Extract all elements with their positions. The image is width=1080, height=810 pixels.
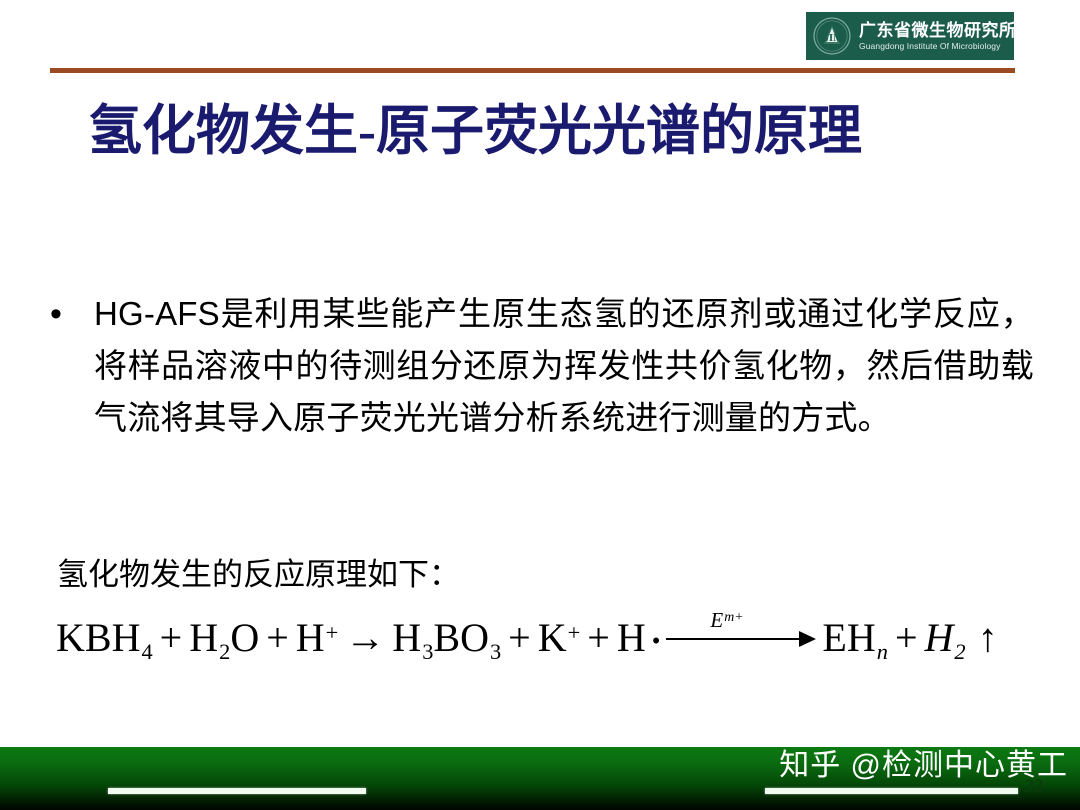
potassium-charge: + xyxy=(568,620,581,645)
kbh4-base: KBH xyxy=(56,615,140,660)
boric-h: H xyxy=(392,615,421,660)
kbh4-subscript: 4 xyxy=(141,639,152,664)
bullet-list-item: • HG-AFS是利用某些能产生原生态氢的还原剂或通过化学反应，将样品溶液中的待… xyxy=(44,288,1034,444)
catalyst-element: E xyxy=(710,608,723,632)
catalyst-reaction-arrow-icon: Em+ xyxy=(666,617,816,651)
product-hydrogen-gas: H2 xyxy=(925,614,966,665)
proton-h: H xyxy=(296,615,325,660)
header-divider xyxy=(50,68,1015,73)
hydride-base: EH xyxy=(822,615,875,660)
water-h: H xyxy=(189,615,218,660)
slide-canvas: GIM 广东省微生物研究所 Guangdong Institute Of Mic… xyxy=(0,0,1080,810)
catalyst-charge: m+ xyxy=(724,609,743,624)
proton-charge: + xyxy=(326,620,339,645)
reactant-proton: H+ xyxy=(296,614,339,661)
hydride-subscript: n xyxy=(877,639,888,664)
reaction-arrow-1: → xyxy=(345,614,385,661)
arrow-shaft xyxy=(666,638,802,641)
nascent-h: H xyxy=(617,615,646,660)
radical-dot-icon: • xyxy=(652,628,661,655)
svg-text:GIM: GIM xyxy=(820,32,844,44)
water-subscript: 2 xyxy=(219,639,230,664)
arrow-head xyxy=(799,631,816,647)
bullet-body-text: HG-AFS是利用某些能产生原生态氢的还原剂或通过化学反应，将样品溶液中的待测组… xyxy=(94,288,1034,444)
footer-accent-line-left xyxy=(108,788,366,794)
plus-operator-3: + xyxy=(508,614,531,661)
bullet-marker-icon: • xyxy=(44,288,94,340)
reactant-water: H2O xyxy=(189,614,259,665)
boric-subscript-1: 3 xyxy=(422,639,433,664)
product-nascent-hydrogen: H• xyxy=(617,614,661,661)
hydrogen-base: H xyxy=(925,615,954,660)
water-o: O xyxy=(230,615,259,660)
page-number: 22 xyxy=(1024,776,1043,798)
boric-subscript-2: 3 xyxy=(490,639,501,664)
plus-operator-4: + xyxy=(587,614,610,661)
footer-accent-line-right xyxy=(765,788,1018,794)
chemical-equation: KBH4 + H2O + H+ → H3BO3 + K+ + H• Em+ EH… xyxy=(56,614,1056,665)
logo-text-group: 广东省微生物研究所 Guangdong Institute Of Microbi… xyxy=(859,22,1017,51)
catalyst-label: Em+ xyxy=(710,608,743,633)
plus-operator-5: + xyxy=(895,614,918,661)
reaction-intro-text: 氢化物发生的反应原理如下： xyxy=(57,552,1007,598)
product-potassium-ion: K+ xyxy=(538,614,581,661)
product-boric-acid: H3BO3 xyxy=(392,614,501,665)
institute-logo: GIM 广东省微生物研究所 Guangdong Institute Of Mic… xyxy=(806,12,1014,60)
gim-emblem-icon: GIM xyxy=(812,16,852,56)
logo-organization-en: Guangdong Institute Of Microbiology xyxy=(859,42,1017,51)
reactant-kbh4: KBH4 xyxy=(56,614,153,665)
gas-evolution-arrow-icon: ↑ xyxy=(978,618,998,658)
plus-operator-1: + xyxy=(160,614,183,661)
logo-organization-cn: 广东省微生物研究所 xyxy=(859,22,1017,39)
product-hydride: EHn xyxy=(822,614,888,665)
page-title: 氢化物发生-原子荧光光谱的原理 xyxy=(88,100,988,162)
boric-bo: BO xyxy=(433,615,489,660)
plus-operator-2: + xyxy=(266,614,289,661)
hydrogen-subscript: 2 xyxy=(954,639,965,664)
potassium-symbol: K xyxy=(538,615,567,660)
